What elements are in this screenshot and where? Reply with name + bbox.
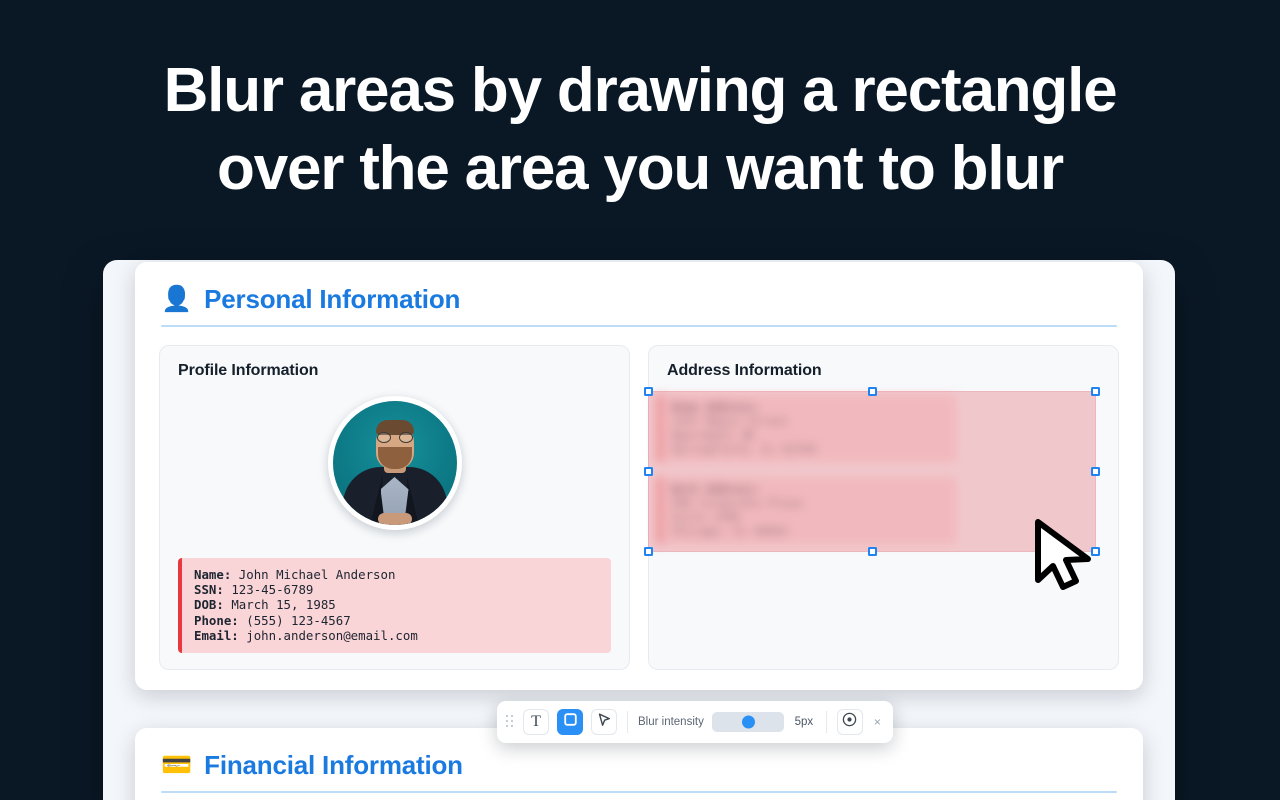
headline-line-2: over the area you want to blur	[0, 130, 1280, 208]
close-toolbar-button[interactable]: ×	[871, 716, 884, 728]
personal-information-card: 👤 Personal Information Profile Informati…	[135, 262, 1143, 690]
text-tool-button[interactable]: T	[523, 709, 549, 735]
clear-annotations-icon	[842, 712, 857, 732]
annotation-toolbar[interactable]: T Blur intensity 5px ×	[497, 701, 893, 743]
address-information-panel: Address Information Home Address: 1247 M…	[648, 345, 1119, 670]
resize-handle-sw[interactable]	[644, 547, 653, 556]
personal-panels: Profile Information Name:	[135, 327, 1143, 670]
slider-knob[interactable]	[742, 716, 755, 729]
blur-intensity-slider[interactable]	[712, 712, 784, 732]
financial-section-title: Financial Information	[204, 750, 463, 781]
sensitive-key: SSN:	[194, 582, 224, 597]
bust-in-silhouette-icon: 👤	[161, 287, 192, 312]
profile-panel-title: Profile Information	[178, 362, 611, 380]
resize-handle-w[interactable]	[644, 467, 653, 476]
avatar	[328, 396, 462, 530]
sensitive-line: DOB: March 15, 1985	[194, 597, 599, 612]
drag-handle-icon[interactable]	[506, 715, 515, 729]
page-headline: Blur areas by drawing a rectangle over t…	[0, 52, 1280, 208]
avatar-photo	[333, 401, 457, 525]
resize-handle-s[interactable]	[868, 547, 877, 556]
blur-intensity-value: 5px	[792, 716, 816, 728]
sensitive-value: (555) 123-4567	[246, 613, 350, 628]
personal-section-header: 👤 Personal Information	[135, 262, 1143, 315]
credit-card-icon: 💳	[161, 753, 192, 778]
cursor-tool-icon	[598, 713, 611, 732]
blur-intensity-label: Blur intensity	[638, 716, 704, 728]
financial-section-divider	[161, 791, 1117, 793]
personal-section-title: Personal Information	[204, 284, 460, 315]
sensitive-value: John Michael Anderson	[239, 567, 396, 582]
sensitive-line: Email: john.anderson@email.com	[194, 628, 599, 643]
text-tool-icon: T	[531, 714, 541, 730]
sensitive-line: Name: John Michael Anderson	[194, 567, 599, 582]
sensitive-key: Name:	[194, 567, 231, 582]
select-tool-button[interactable]	[591, 709, 617, 735]
clear-annotations-button[interactable]	[837, 709, 863, 735]
address-panel-title: Address Information	[667, 362, 1100, 380]
profile-sensitive-info-box: Name: John Michael Anderson SSN: 123-45-…	[178, 558, 611, 653]
sensitive-line: Phone: (555) 123-4567	[194, 613, 599, 628]
blur-selection-region[interactable]: Home Address: 1247 Maple Street Apartmen…	[649, 392, 1095, 551]
sensitive-value: 123-45-6789	[231, 582, 313, 597]
sensitive-value: March 15, 1985	[231, 597, 335, 612]
toolbar-divider	[627, 711, 628, 733]
sensitive-line: SSN: 123-45-6789	[194, 582, 599, 597]
sensitive-key: Phone:	[194, 613, 239, 628]
sensitive-key: Email:	[194, 628, 239, 643]
profile-information-panel: Profile Information Name:	[159, 345, 630, 670]
sensitive-value: john.anderson@email.com	[246, 628, 418, 643]
resize-handle-ne[interactable]	[1091, 387, 1100, 396]
headline-line-1: Blur areas by drawing a rectangle	[0, 52, 1280, 130]
rectangle-tool-icon	[564, 713, 577, 731]
resize-handle-nw[interactable]	[644, 387, 653, 396]
blur-rectangle-tool-button[interactable]	[557, 709, 583, 735]
toolbar-divider	[826, 711, 827, 733]
resize-handle-n[interactable]	[868, 387, 877, 396]
sensitive-key: DOB:	[194, 597, 224, 612]
resize-handle-se[interactable]	[1091, 547, 1100, 556]
blur-rectangle-overlay[interactable]	[649, 392, 1095, 551]
resize-handle-e[interactable]	[1091, 467, 1100, 476]
